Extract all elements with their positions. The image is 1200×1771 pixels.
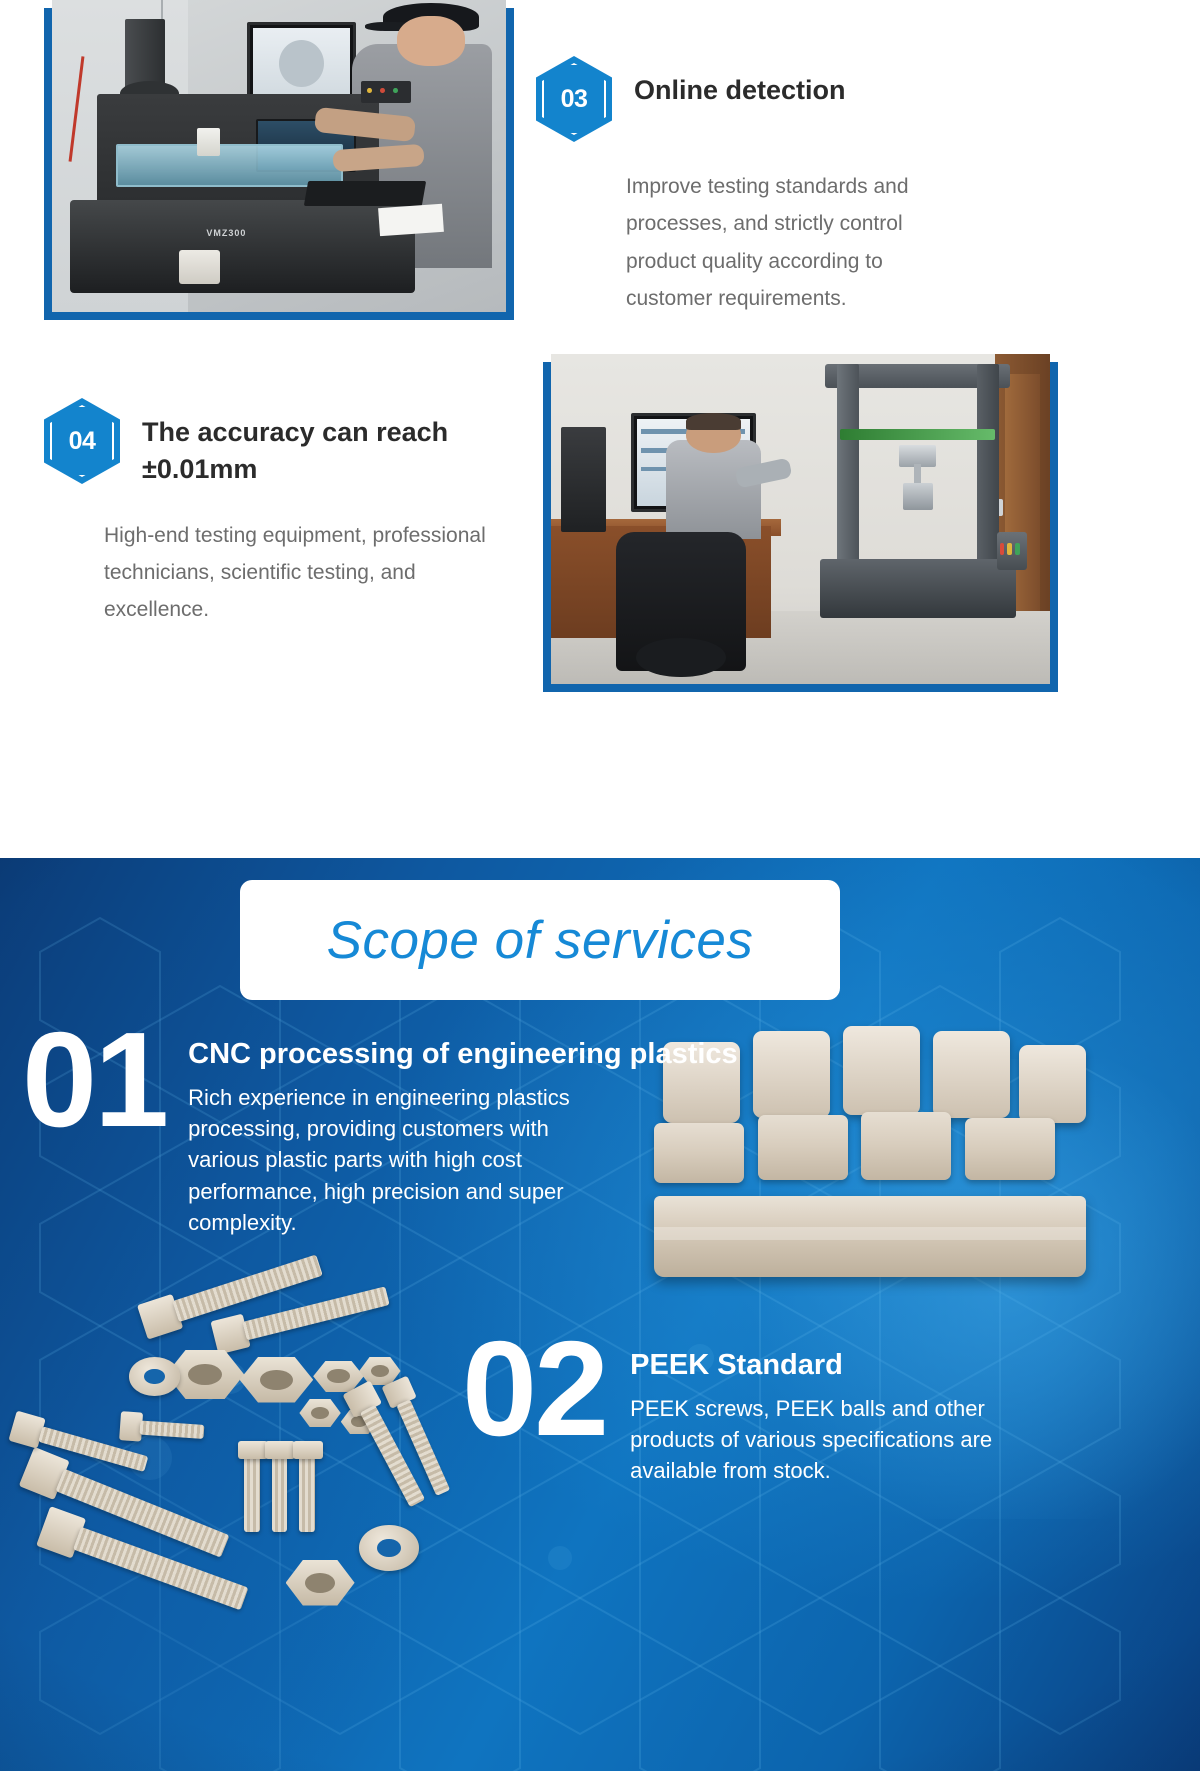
photo-image-detection: VMZ300 — [52, 0, 506, 312]
feature-online-detection: 03 Online detection Improve testing stan… — [536, 56, 966, 318]
feature-title: Online detection — [634, 56, 846, 109]
feature-body-wrap: High-end testing equipment, professional… — [44, 517, 514, 629]
accuracy-testing-photo — [543, 362, 1058, 692]
feature-head-row: 04 The accuracy can reach ±0.01mm — [44, 398, 514, 489]
feature-accuracy: 04 The accuracy can reach ±0.01mm High-e… — [44, 398, 514, 629]
vignette-overlay — [0, 858, 1200, 1771]
feature-title: The accuracy can reach ±0.01mm — [142, 398, 514, 489]
feature-body-wrap: Improve testing standards and processes,… — [536, 168, 966, 318]
page-root: VMZ300 03 Online detection Improve testi… — [0, 0, 1200, 1771]
scene-measuring-room: VMZ300 — [52, 0, 506, 312]
online-detection-photo: VMZ300 — [44, 8, 514, 320]
feature-body: Improve testing standards and processes,… — [626, 168, 966, 318]
feature-number: 04 — [44, 398, 120, 484]
testing-capability-section: VMZ300 03 Online detection Improve testi… — [0, 0, 1200, 858]
hexagon-badge-icon: 03 — [536, 56, 612, 142]
hexagon-badge-icon: 04 — [44, 398, 120, 484]
scope-of-services-section: Scope of services 01 CNC processing of e… — [0, 858, 1200, 1771]
scene-tensile-lab — [551, 354, 1050, 684]
feature-head-row: 03 Online detection — [536, 56, 966, 142]
feature-number: 03 — [536, 56, 612, 142]
photo-image-accuracy — [551, 354, 1050, 684]
feature-body: High-end testing equipment, professional… — [104, 517, 514, 629]
